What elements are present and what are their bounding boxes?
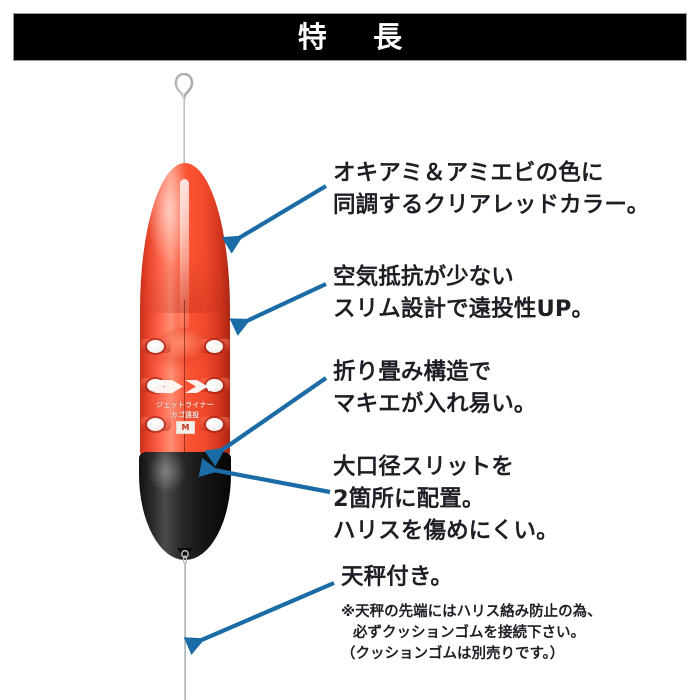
callout-3: 折り畳み構造で マキエが入れ易い。: [333, 357, 537, 421]
callout-5-note-line-1: ※天秤の先端にはハリス絡み防止の為、: [341, 602, 602, 623]
callout-5-line-1: 天秤付き。: [341, 562, 453, 594]
product-label-line1: ジェットライナー: [140, 400, 230, 410]
callout-4-line-2: 2箇所に配置。: [333, 484, 559, 516]
callout-2: 空気抵抗が少ない スリム設計で遠投性UP。: [333, 262, 594, 326]
callout-1-line-1: オキアミ＆アミエビの色に: [333, 158, 649, 190]
callout-5-note: ※天秤の先端にはハリス絡み防止の為、 必ずクッションゴムを接続下さい。 （クッシ…: [341, 602, 602, 665]
hole-right-row1: [206, 340, 223, 353]
callout-4: 大口径スリットを 2箇所に配置。 ハリスを傷めにくい。: [333, 452, 559, 548]
nose-shading: [140, 163, 230, 313]
black-body-pin-hole: [208, 466, 214, 474]
daiwa-logo-icon: [152, 378, 218, 395]
callout-5: 天秤付き。: [341, 562, 453, 594]
callout-4-line-1: 大口径スリットを: [333, 452, 559, 484]
tenbin-arm-wire: [184, 562, 186, 700]
callout-3-line-2: マキエが入れ易い。: [333, 389, 537, 421]
callout-3-line-1: 折り畳み構造で: [333, 357, 537, 389]
callout-1-line-2: 同調するクリアレッドカラー。: [333, 190, 649, 222]
black-weight-body: [139, 452, 231, 560]
callout-4-line-3: ハリスを傷めにくい。: [333, 516, 559, 548]
product-label-line2: カゴ遠投: [140, 410, 230, 420]
callout-2-line-1: 空気抵抗が少ない: [333, 262, 594, 294]
callout-2-line-2: スリム設計で遠投性UP。: [333, 294, 594, 326]
upper-wire: [183, 97, 185, 169]
product-illustration: ジェットライナー カゴ遠投 M: [0, 0, 340, 700]
size-badge: M: [176, 421, 195, 434]
feature-diagram-page: 特 長 ジェットライナー カゴ遠投 M: [0, 0, 700, 700]
callout-5-note-line-2: 必ずクッションゴムを接続下さい。: [341, 623, 602, 644]
callout-5-note-line-3: （クッションゴムは別売りです。）: [341, 644, 602, 665]
wire-eye-loop-icon: [173, 73, 195, 100]
callout-1: オキアミ＆アミエビの色に 同調するクリアレッドカラー。: [333, 158, 649, 222]
hole-left-row1: [147, 340, 164, 353]
